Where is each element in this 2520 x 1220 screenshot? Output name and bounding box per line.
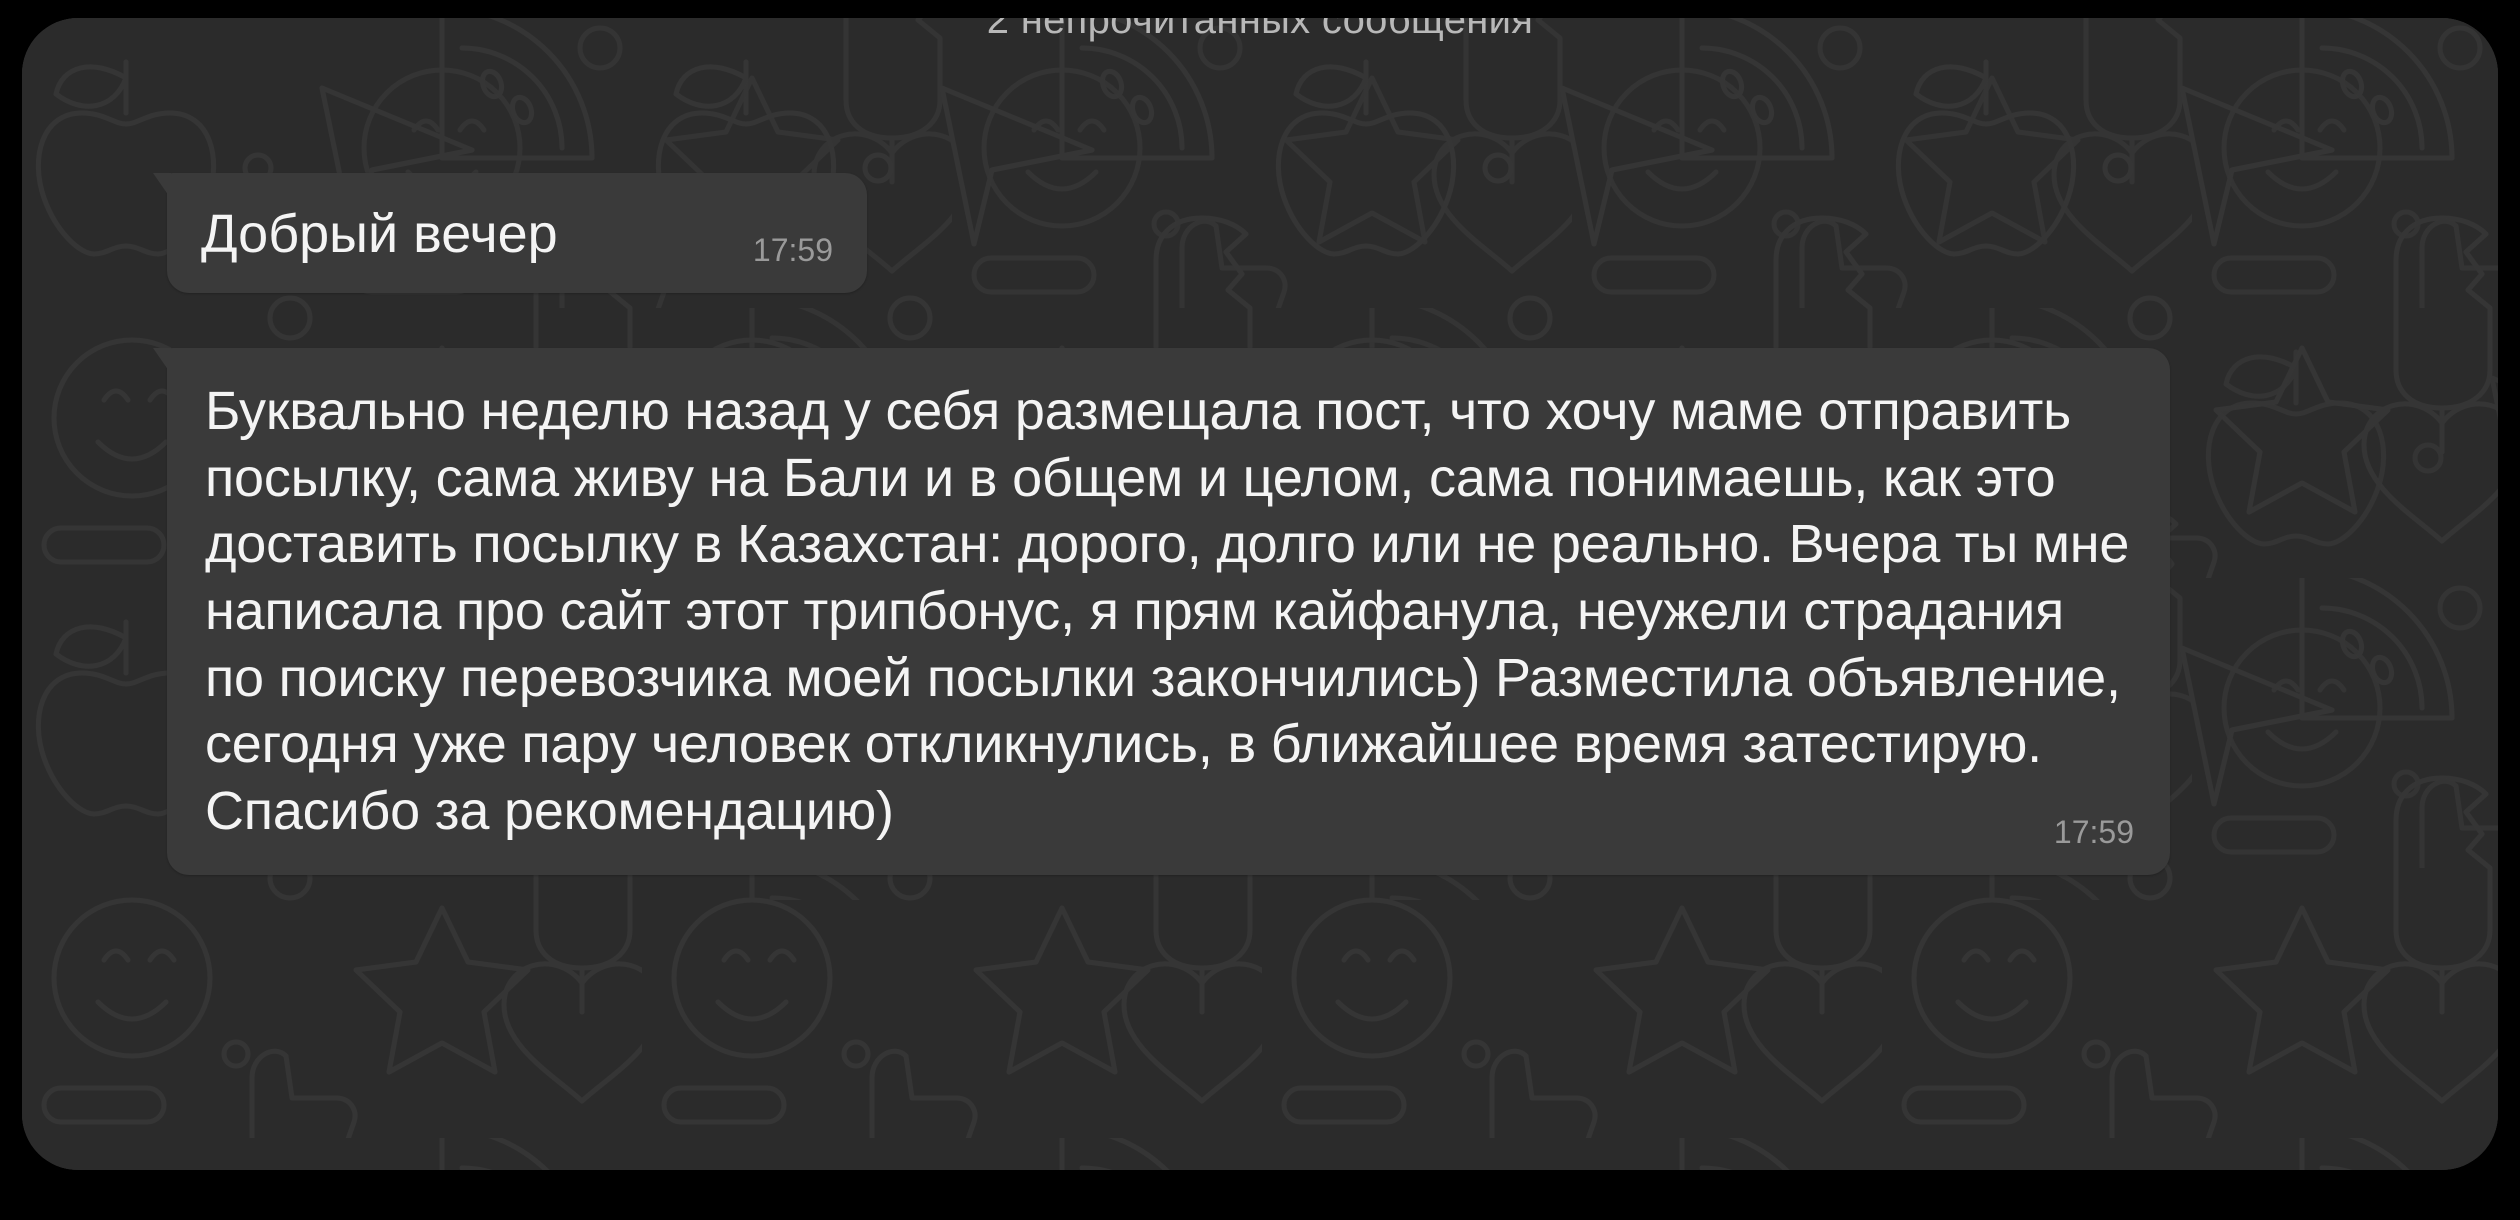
device-frame: 2 непрочитанных сообщения Добрый вечер 1… bbox=[0, 0, 2520, 1220]
message-timestamp: 17:59 bbox=[753, 232, 833, 269]
chat-window: 2 непрочитанных сообщения Добрый вечер 1… bbox=[22, 18, 2498, 1170]
message-text: Добрый вечер bbox=[201, 204, 558, 264]
message-list: Добрый вечер 17:59 Буквально неделю наза… bbox=[22, 18, 2498, 1170]
message-timestamp: 17:59 bbox=[2054, 814, 2134, 851]
message-bubble-greeting[interactable]: Добрый вечер 17:59 bbox=[167, 173, 867, 293]
message-text: Буквально неделю назад у себя размещала … bbox=[205, 378, 2132, 845]
message-bubble-long[interactable]: Буквально неделю назад у себя размещала … bbox=[167, 348, 2170, 875]
